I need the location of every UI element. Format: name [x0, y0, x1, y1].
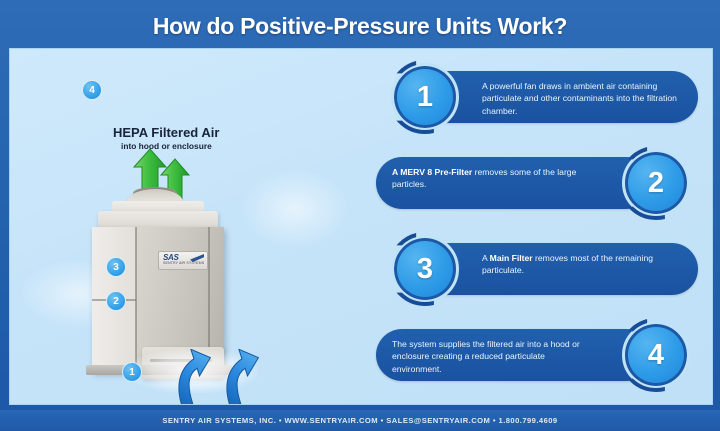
step-1-number: 1	[417, 83, 433, 112]
step-1-text-part: A powerful fan draws in ambient air cont…	[482, 81, 677, 116]
content-panel: 4 HEPA Filtered Air into hood or enclosu…	[9, 48, 713, 405]
step-3-text: A Main Filter removes most of the remain…	[482, 252, 683, 277]
step-4-text-part: The system supplies the filtered air int…	[392, 339, 580, 374]
badge-2-on-unit: 2	[106, 291, 126, 311]
badge-4-label: 4	[82, 80, 102, 100]
step-1-number-badge: 1	[397, 69, 453, 125]
step-3-text-part: Main Filter	[490, 253, 533, 263]
step-2-text-part: A MERV 8 Pre-Filter	[392, 167, 472, 177]
poster-footer: SENTRY AIR SYSTEMS, INC. • WWW.SENTRYAIR…	[0, 410, 720, 431]
step-3: 3A Main Filter removes most of the remai…	[376, 235, 702, 303]
sas-logo-plate: SAS SENTRY AIR SYSTEMS	[158, 251, 208, 270]
badge-1-label: 1	[122, 362, 142, 382]
step-3-text-part: A	[482, 253, 490, 263]
step-1-text: A powerful fan draws in ambient air cont…	[482, 80, 683, 117]
step-2-text: A MERV 8 Pre-Filter removes some of the …	[392, 166, 583, 191]
step-1: 1A powerful fan draws in ambient air con…	[376, 63, 702, 131]
step-2: 2A MERV 8 Pre-Filter removes some of the…	[376, 149, 702, 217]
unit-illustration: 4 HEPA Filtered Air into hood or enclosu…	[10, 49, 370, 404]
step-3-number: 3	[417, 255, 433, 284]
footer-contact-text: SENTRY AIR SYSTEMS, INC. • WWW.SENTRYAIR…	[162, 416, 557, 425]
intake-arrows-icon	[160, 349, 290, 405]
step-3-number-badge: 3	[397, 241, 453, 297]
step-2-number: 2	[648, 169, 664, 198]
step-4-text: The system supplies the filtered air int…	[392, 338, 583, 375]
sas-logo-subtext: SENTRY AIR SYSTEMS	[163, 261, 204, 265]
hepa-label-line1: HEPA Filtered Air	[113, 125, 219, 140]
step-2-number-badge: 2	[628, 155, 684, 211]
infographic-poster: How do Positive-Pressure Units Work? 4 H…	[0, 0, 720, 431]
step-4-number: 4	[648, 341, 664, 370]
step-4-number-badge: 4	[628, 327, 684, 383]
badge-3-on-unit: 3	[106, 257, 126, 277]
page-title: How do Positive-Pressure Units Work?	[153, 13, 567, 40]
step-4: 4The system supplies the filtered air in…	[376, 321, 702, 389]
poster-header: How do Positive-Pressure Units Work?	[0, 0, 720, 52]
